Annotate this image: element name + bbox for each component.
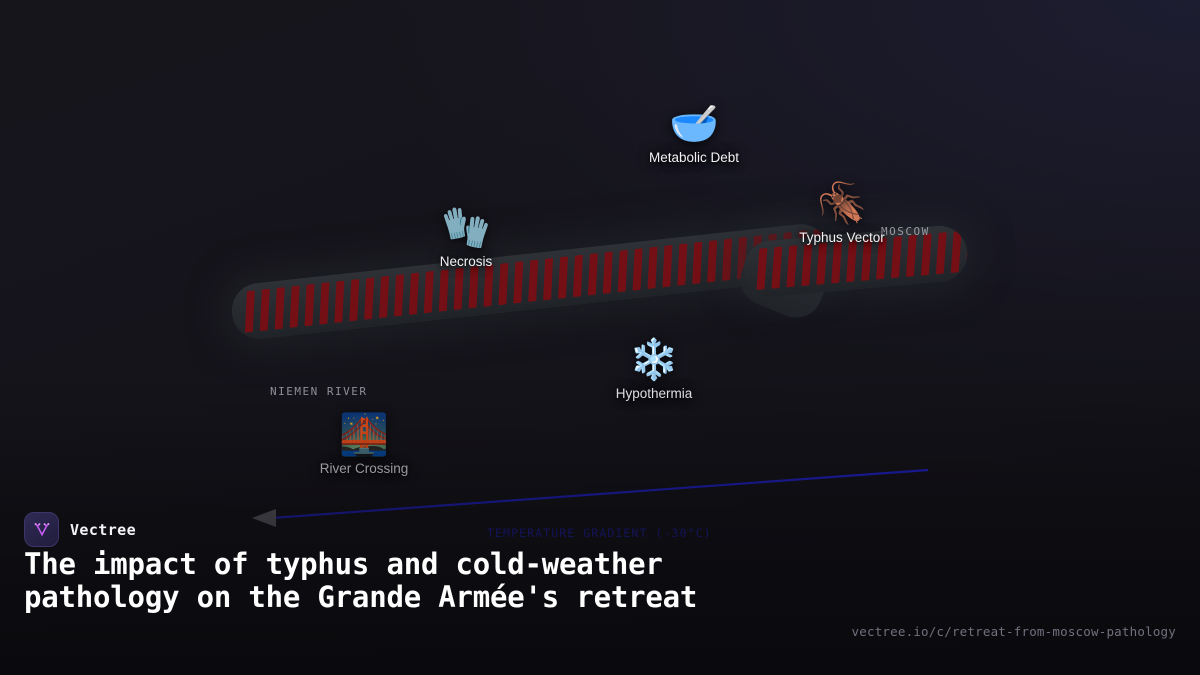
army-column-tick [290, 286, 300, 329]
army-column-tick [543, 258, 553, 301]
army-column-tick [275, 287, 285, 330]
army-column-tick [677, 244, 687, 287]
army-column-tick [966, 230, 970, 273]
army-column-tick [439, 270, 449, 313]
node-river-crossing[interactable]: 🌉 River Crossing [320, 411, 409, 476]
army-column-tick [588, 253, 598, 296]
army-column-tick [349, 279, 359, 322]
army-column-tick [305, 284, 315, 327]
army-column-tick [648, 247, 658, 290]
army-column-tick [756, 248, 767, 291]
gloves-icon: 🧤 [440, 204, 493, 252]
army-column-tick [454, 268, 464, 311]
bowl-with-spoon-icon: 🥣 [649, 100, 739, 148]
army-column-tick [771, 247, 782, 290]
temperature-gradient-arrowhead [252, 509, 276, 527]
army-column-tick [906, 235, 917, 278]
geo-label-niemen-river: NIEMEN RIVER [270, 385, 367, 398]
brand-lockup[interactable]: Vectree [24, 512, 136, 547]
army-column-tick [528, 260, 538, 303]
node-label: Necrosis [440, 254, 493, 269]
geo-label-moscow: MOSCOW [881, 225, 930, 238]
bridge-at-night-icon: 🌉 [320, 411, 409, 459]
cockroach-icon: 🪳 [799, 180, 885, 228]
temperature-gradient-caption: TEMPERATURE GRADIENT (-30°C) [487, 526, 712, 540]
army-column-tick [662, 245, 672, 288]
army-column-tick [379, 276, 389, 319]
army-column-tick [801, 244, 812, 287]
army-column-tick [498, 263, 508, 306]
node-label: Metabolic Debt [649, 150, 739, 165]
snowflake-icon: ❄️ [616, 336, 693, 384]
node-label: Hypothermia [616, 386, 693, 401]
army-column-tick [936, 232, 947, 275]
node-hypothermia[interactable]: ❄️ Hypothermia [616, 336, 693, 401]
army-column-tick [816, 243, 827, 286]
infographic-canvas: NIEMEN RIVER MOSCOW TEMPERATURE GRADIENT… [0, 0, 1200, 675]
army-column-tick [364, 278, 374, 321]
army-column-tick [483, 265, 493, 308]
army-column-tick [558, 257, 568, 300]
army-column-tick [603, 252, 613, 295]
army-column-tick [245, 291, 255, 334]
army-column-tick [633, 249, 643, 292]
page-title: The impact of typhus and cold-weather pa… [24, 548, 784, 613]
army-column-tick [573, 255, 583, 298]
army-column-tick [861, 239, 872, 282]
temperature-gradient-line [272, 470, 928, 518]
army-column-tick [334, 281, 344, 324]
army-column-tick [707, 240, 717, 283]
permalink: vectree.io/c/retreat-from-moscow-patholo… [852, 624, 1176, 639]
army-column-tick [951, 231, 962, 274]
node-typhus-vector[interactable]: 🪳 Typhus Vector [799, 180, 885, 245]
army-column-tick [394, 274, 404, 317]
node-metabolic-debt[interactable]: 🥣 Metabolic Debt [649, 100, 739, 165]
army-column-tick [424, 271, 434, 314]
node-label: Typhus Vector [799, 230, 885, 245]
army-column-tick [786, 246, 797, 289]
army-column-tick [260, 289, 270, 332]
army-column-tick [319, 283, 329, 326]
vectree-v-tree-icon [24, 512, 59, 547]
army-column-tick [513, 262, 523, 305]
army-column-tick [692, 242, 702, 285]
army-column-tick [891, 236, 902, 279]
army-column-tick [846, 240, 857, 283]
brand-name: Vectree [70, 521, 136, 539]
node-necrosis[interactable]: 🧤 Necrosis [440, 204, 493, 269]
army-column-tick [409, 273, 419, 316]
army-column-tick [921, 234, 932, 277]
army-column-tick [722, 239, 732, 282]
army-column-tick [831, 242, 842, 285]
army-column-tick [469, 266, 479, 309]
node-label: River Crossing [320, 461, 409, 476]
army-column-tick [618, 250, 628, 293]
